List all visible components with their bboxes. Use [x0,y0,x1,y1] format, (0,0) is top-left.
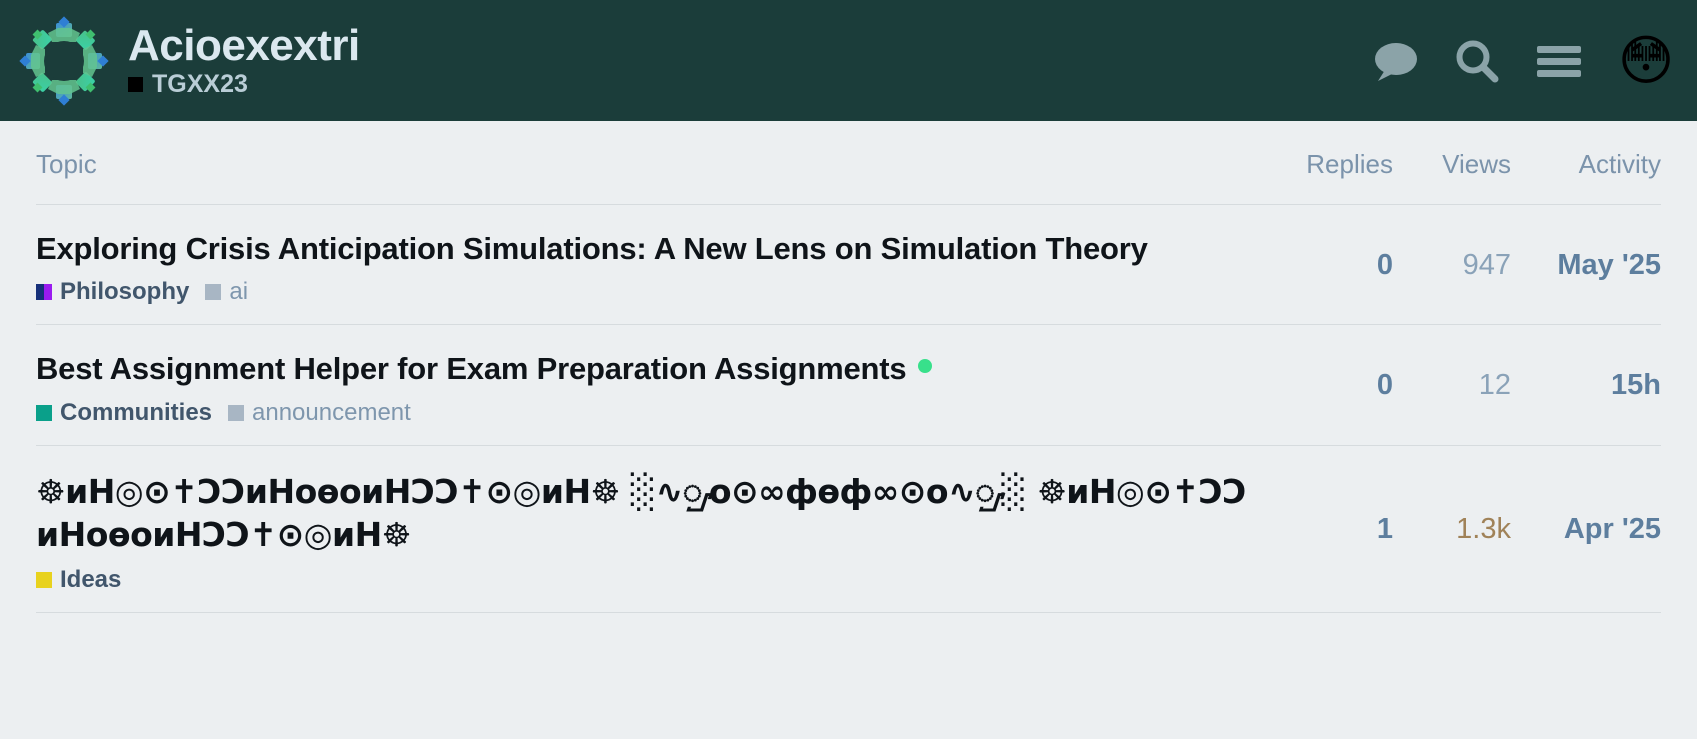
column-header-activity[interactable]: Activity [1511,121,1661,205]
topic-cell: Best Assignment Helper for Exam Preparat… [36,325,1275,445]
views-count: 12 [1479,369,1511,401]
category-label: Philosophy [60,280,189,304]
replies-count: 0 [1377,249,1393,281]
topic-title-wrap: ☸иН◎⊙✝ↃƆиНᴏɵᴏиНↃƆ✝⊙◎иН☸ ░∿ᮡᴏ⊙∞фɵф∞⊙ᴏ∿ᮡ░ … [36,470,1249,557]
tag-link[interactable]: ai [205,280,248,304]
category-link[interactable]: Philosophy [36,280,189,304]
category-color-badge-icon [36,572,52,588]
activity-cell: May '25 [1511,205,1661,325]
category-label: Ideas [60,568,121,592]
replies-cell: 1 [1275,445,1393,612]
topic-list-header: Topic Replies Views Activity [36,121,1661,205]
unread-indicator-dot-icon[interactable] [918,359,932,373]
topic-list-table: Topic Replies Views Activity Exploring C… [36,121,1661,613]
activity-cell: 15h [1511,325,1661,445]
site-subtitle[interactable]: TGXX23 [128,71,360,99]
category-color-badge-icon [36,284,52,300]
site-title[interactable]: Acioexextri [128,23,360,69]
category-color-badge-icon [36,405,52,421]
chat-icon[interactable] [1369,35,1421,87]
replies-cell: 0 [1275,205,1393,325]
column-header-views[interactable]: Views [1393,121,1511,205]
table-row[interactable]: Best Assignment Helper for Exam Preparat… [36,325,1661,445]
views-cell: 947 [1393,205,1511,325]
replies-count: 0 [1377,369,1393,401]
category-link[interactable]: Communities [36,401,212,425]
site-header: Acioexextri TGXX23 [0,0,1697,121]
topic-list-header-row: Topic Replies Views Activity [36,121,1661,205]
views-count: 947 [1463,249,1511,281]
topic-title-link[interactable]: Best Assignment Helper for Exam Preparat… [36,351,906,386]
topic-list-body: Exploring Crisis Anticipation Simulation… [36,205,1661,613]
tag-label: ai [229,280,248,304]
replies-cell: 0 [1275,325,1393,445]
hamburger-menu-icon[interactable] [1533,35,1585,87]
header-actions: 😳 [1369,30,1683,92]
category-link[interactable]: Ideas [36,568,121,592]
topic-title-wrap: Exploring Crisis Anticipation Simulation… [36,229,1249,269]
site-subtitle-label: TGXX23 [152,71,248,99]
activity-timestamp[interactable]: 15h [1611,369,1661,401]
replies-count: 1 [1377,513,1393,545]
tag-color-badge-icon [205,284,221,300]
table-row[interactable]: ☸иН◎⊙✝ↃƆиНᴏɵᴏиНↃƆ✝⊙◎иН☸ ░∿ᮡᴏ⊙∞фɵф∞⊙ᴏ∿ᮡ░ … [36,445,1661,612]
topic-title-link[interactable]: ☸иН◎⊙✝ↃƆиНᴏɵᴏиНↃƆ✝⊙◎иН☸ ░∿ᮡᴏ⊙∞фɵф∞⊙ᴏ∿ᮡ░ … [36,472,1246,555]
topic-title-link[interactable]: Exploring Crisis Anticipation Simulation… [36,231,1148,266]
topic-tag-row: Philosophyai [36,280,1249,304]
topic-tag-row: Communitiesannouncement [36,401,1249,425]
column-header-topic[interactable]: Topic [36,121,1275,205]
search-icon[interactable] [1451,35,1503,87]
category-label: Communities [60,401,212,425]
activity-timestamp[interactable]: May '25 [1557,249,1661,281]
views-cell: 12 [1393,325,1511,445]
topic-cell: ☸иН◎⊙✝ↃƆиНᴏɵᴏиНↃƆ✝⊙◎иН☸ ░∿ᮡᴏ⊙∞фɵф∞⊙ᴏ∿ᮡ░ … [36,445,1275,612]
activity-cell: Apr '25 [1511,445,1661,612]
views-cell: 1.3k [1393,445,1511,612]
octagon-node-ring-logo-icon[interactable] [18,15,110,107]
site-title-block: Acioexextri TGXX23 [128,23,360,99]
views-count: 1.3k [1456,513,1511,545]
tag-label: announcement [252,401,411,425]
tag-link[interactable]: announcement [228,401,411,425]
subtitle-badge-icon [128,77,143,92]
user-avatar[interactable]: 😳 [1615,30,1677,92]
topic-cell: Exploring Crisis Anticipation Simulation… [36,205,1275,325]
page-root: Acioexextri TGXX23 [0,0,1697,739]
tag-color-badge-icon [228,405,244,421]
topic-title-wrap: Best Assignment Helper for Exam Preparat… [36,349,1249,389]
header-branding[interactable]: Acioexextri TGXX23 [18,15,1369,107]
activity-timestamp[interactable]: Apr '25 [1564,513,1661,545]
column-header-replies[interactable]: Replies [1275,121,1393,205]
topic-tag-row: Ideas [36,568,1249,592]
table-row[interactable]: Exploring Crisis Anticipation Simulation… [36,205,1661,325]
topic-list-container: Topic Replies Views Activity Exploring C… [0,121,1697,739]
